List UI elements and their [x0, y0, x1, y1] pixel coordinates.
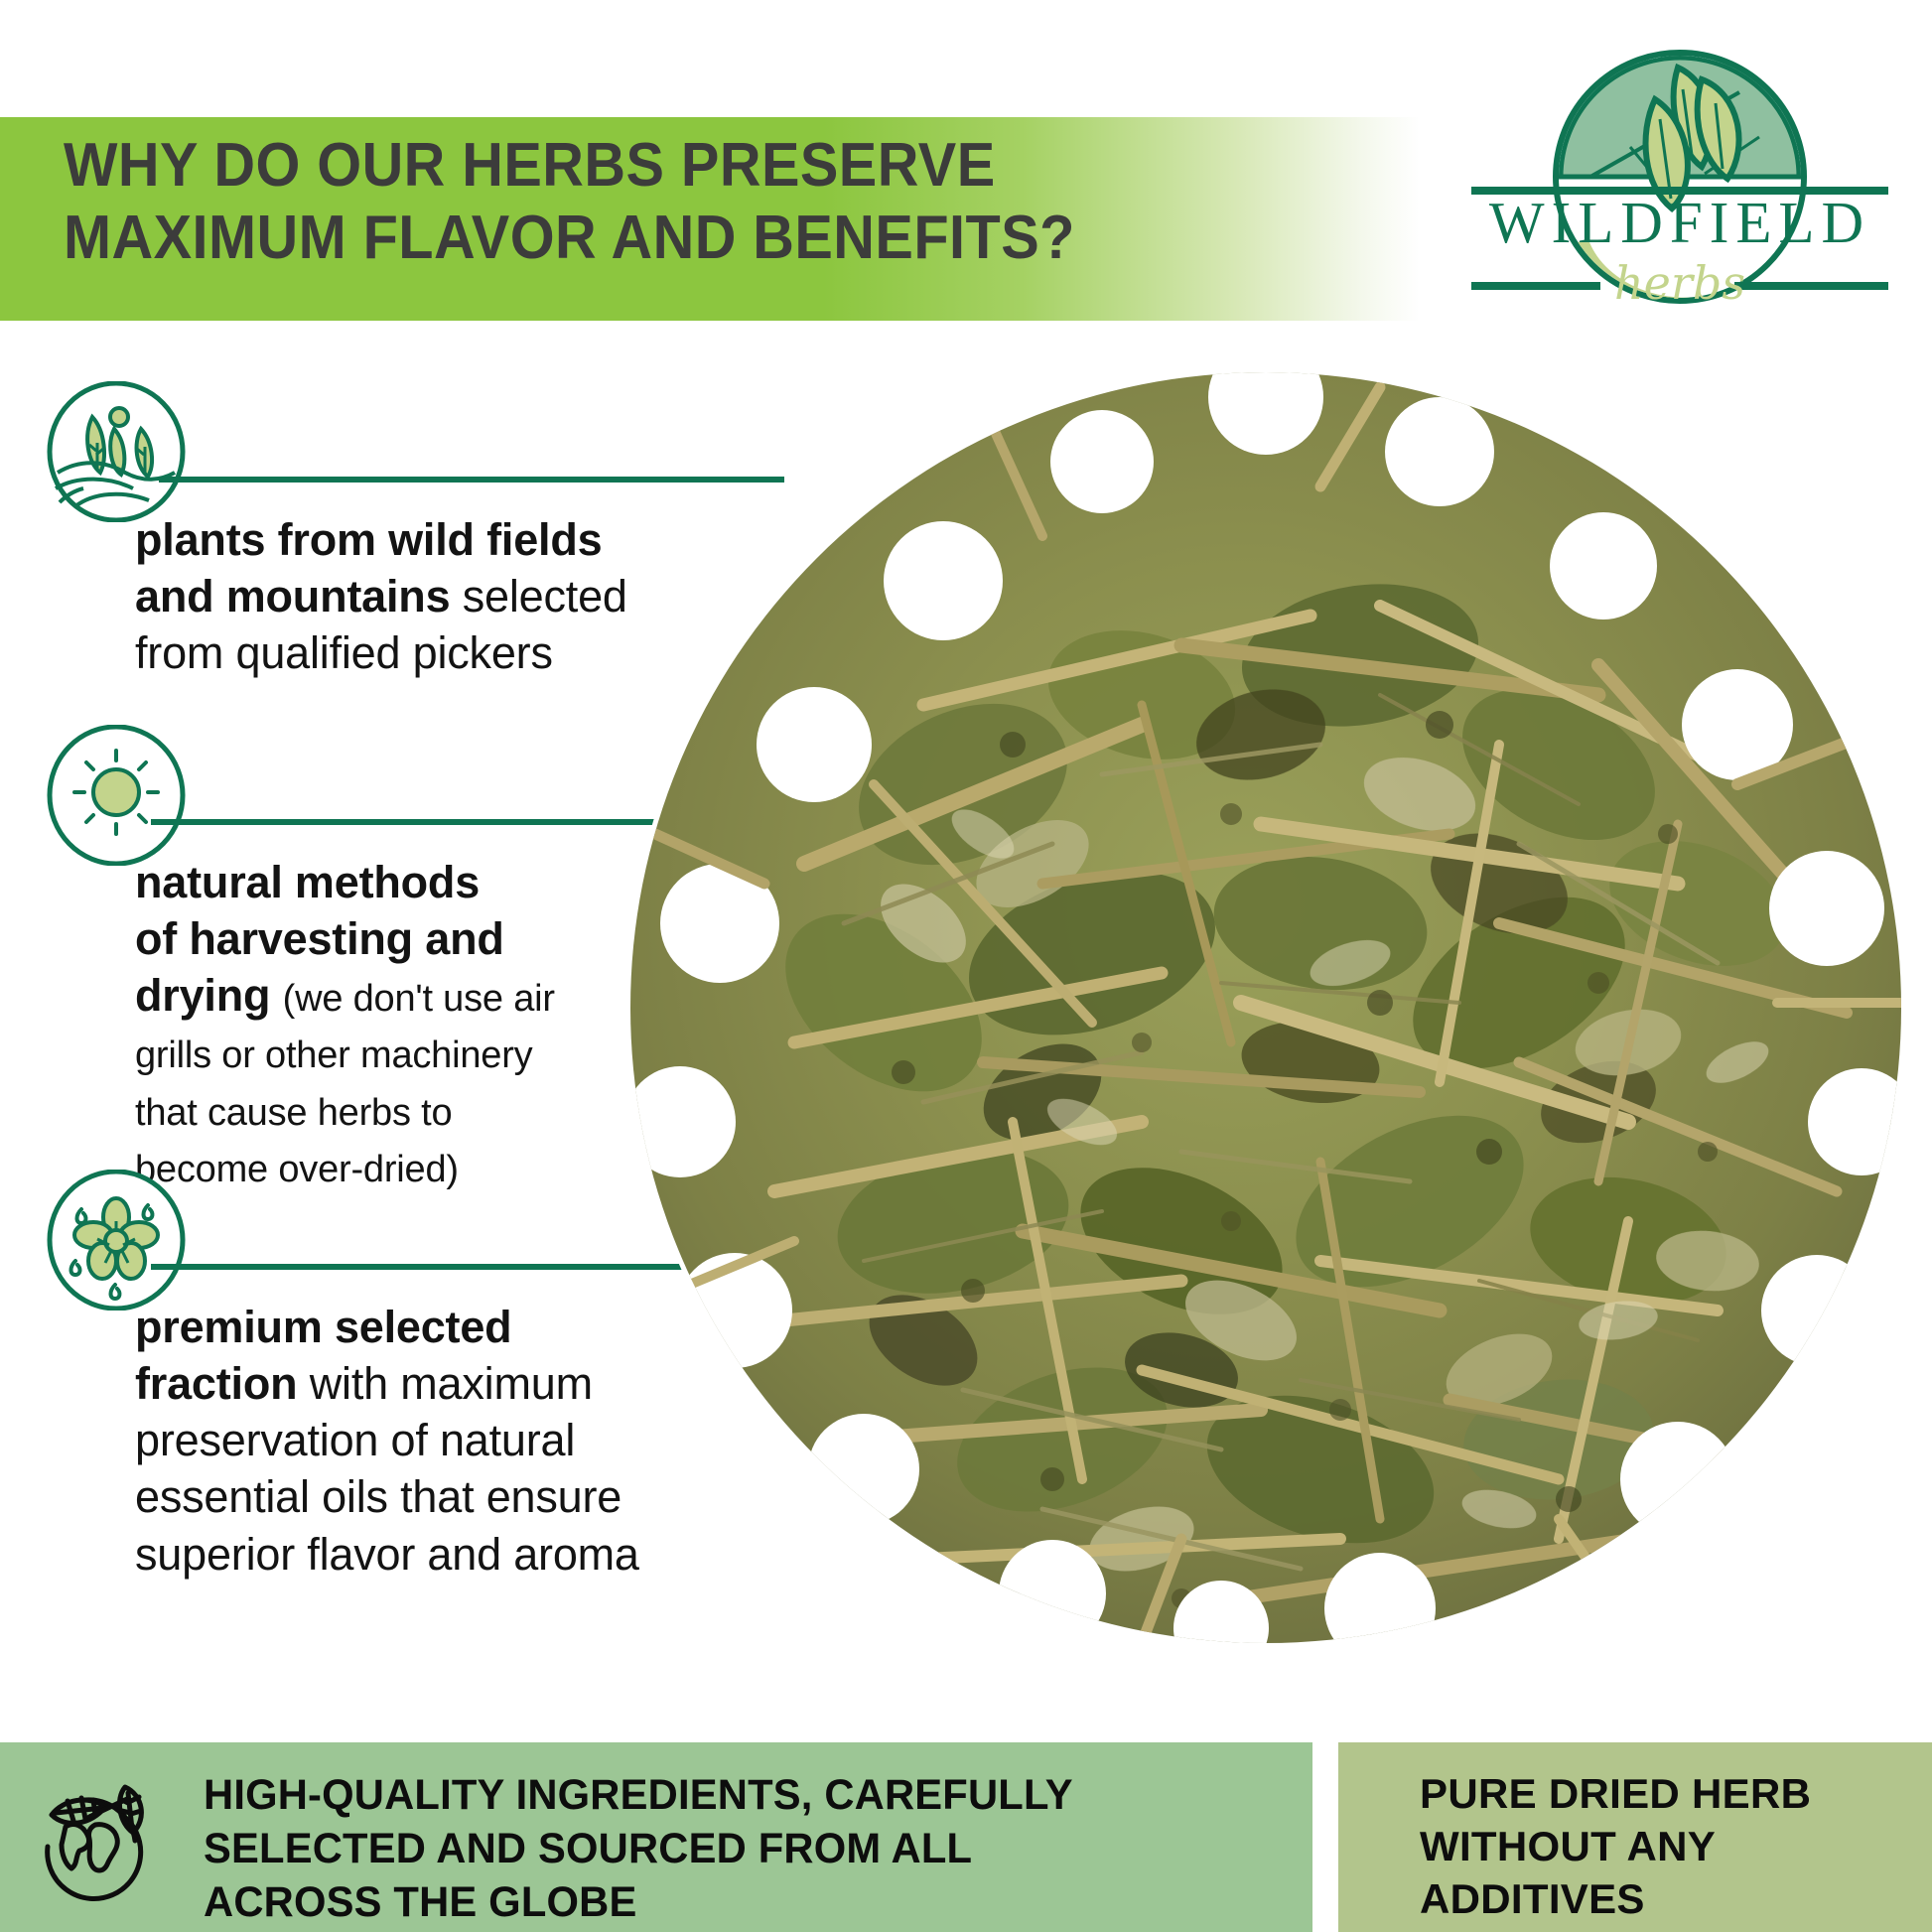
feature-divider-3	[151, 1264, 742, 1270]
feature-text-1: plants from wild fields and mountains se…	[135, 511, 691, 681]
page-title: WHY DO OUR HERBS PRESERVE MAXIMUM FLAVOR…	[64, 130, 1135, 274]
brand-logo: WILDFIELD herbs	[1442, 28, 1918, 326]
feature-divider-2	[151, 819, 727, 825]
logo-wordmark: WILDFIELD	[1442, 189, 1918, 257]
flower-droplets-icon	[46, 1170, 187, 1311]
sun-icon	[46, 725, 187, 866]
dried-herb-pile-photo	[625, 367, 1906, 1648]
feature-text-2: natural methods of harvesting and drying…	[135, 854, 671, 1194]
banner-left-text: HIGH-QUALITY INGREDIENTS, CAREFULLY SELE…	[204, 1768, 1253, 1930]
feature-text-3: premium selected fraction with maximum p…	[135, 1299, 711, 1583]
field-plants-icon	[46, 381, 187, 522]
globe-leaf-icon	[30, 1769, 159, 1908]
feature-divider-1	[159, 477, 784, 483]
banner-right-text: PURE DRIED HERB WITHOUT ANY ADDITIVES	[1420, 1768, 1906, 1926]
logo-subwordmark: herbs	[1442, 256, 1918, 310]
